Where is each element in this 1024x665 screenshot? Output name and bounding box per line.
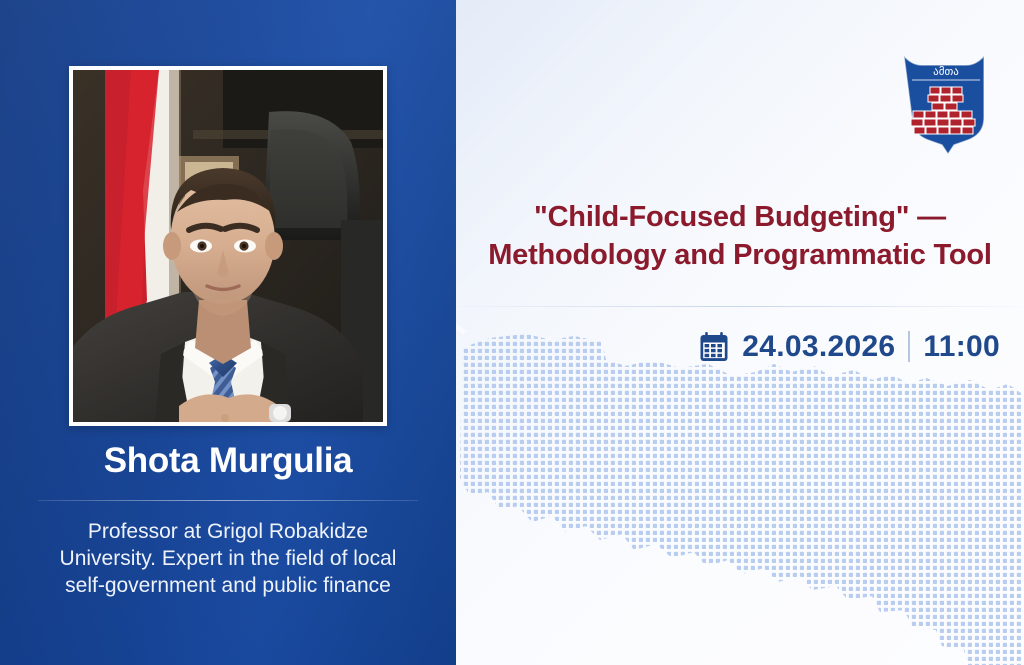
speaker-name: Shota Murgulia: [0, 441, 456, 481]
event-title: "Child-Focused Budgeting" — Methodology …: [470, 198, 1010, 275]
shield-brick-wall-logo: ამთა: [898, 50, 994, 160]
speaker-photo: [73, 70, 383, 422]
speaker-divider: [38, 500, 418, 501]
speaker-photo-frame: [69, 66, 387, 426]
datetime-separator: [908, 331, 910, 362]
event-time: 11:00: [923, 332, 1000, 362]
event-datetime: 24.03.2026 11:00: [699, 331, 1000, 362]
event-date: 24.03.2026: [742, 332, 895, 362]
logo-caption: ამთა: [933, 65, 959, 78]
speaker-bio: Professor at Grigol Robakidze University…: [48, 518, 408, 599]
title-divider: [460, 306, 1020, 307]
event-poster: Shota Murgulia Professor at Grigol Robak…: [0, 0, 1024, 665]
calendar-icon: [699, 331, 729, 362]
